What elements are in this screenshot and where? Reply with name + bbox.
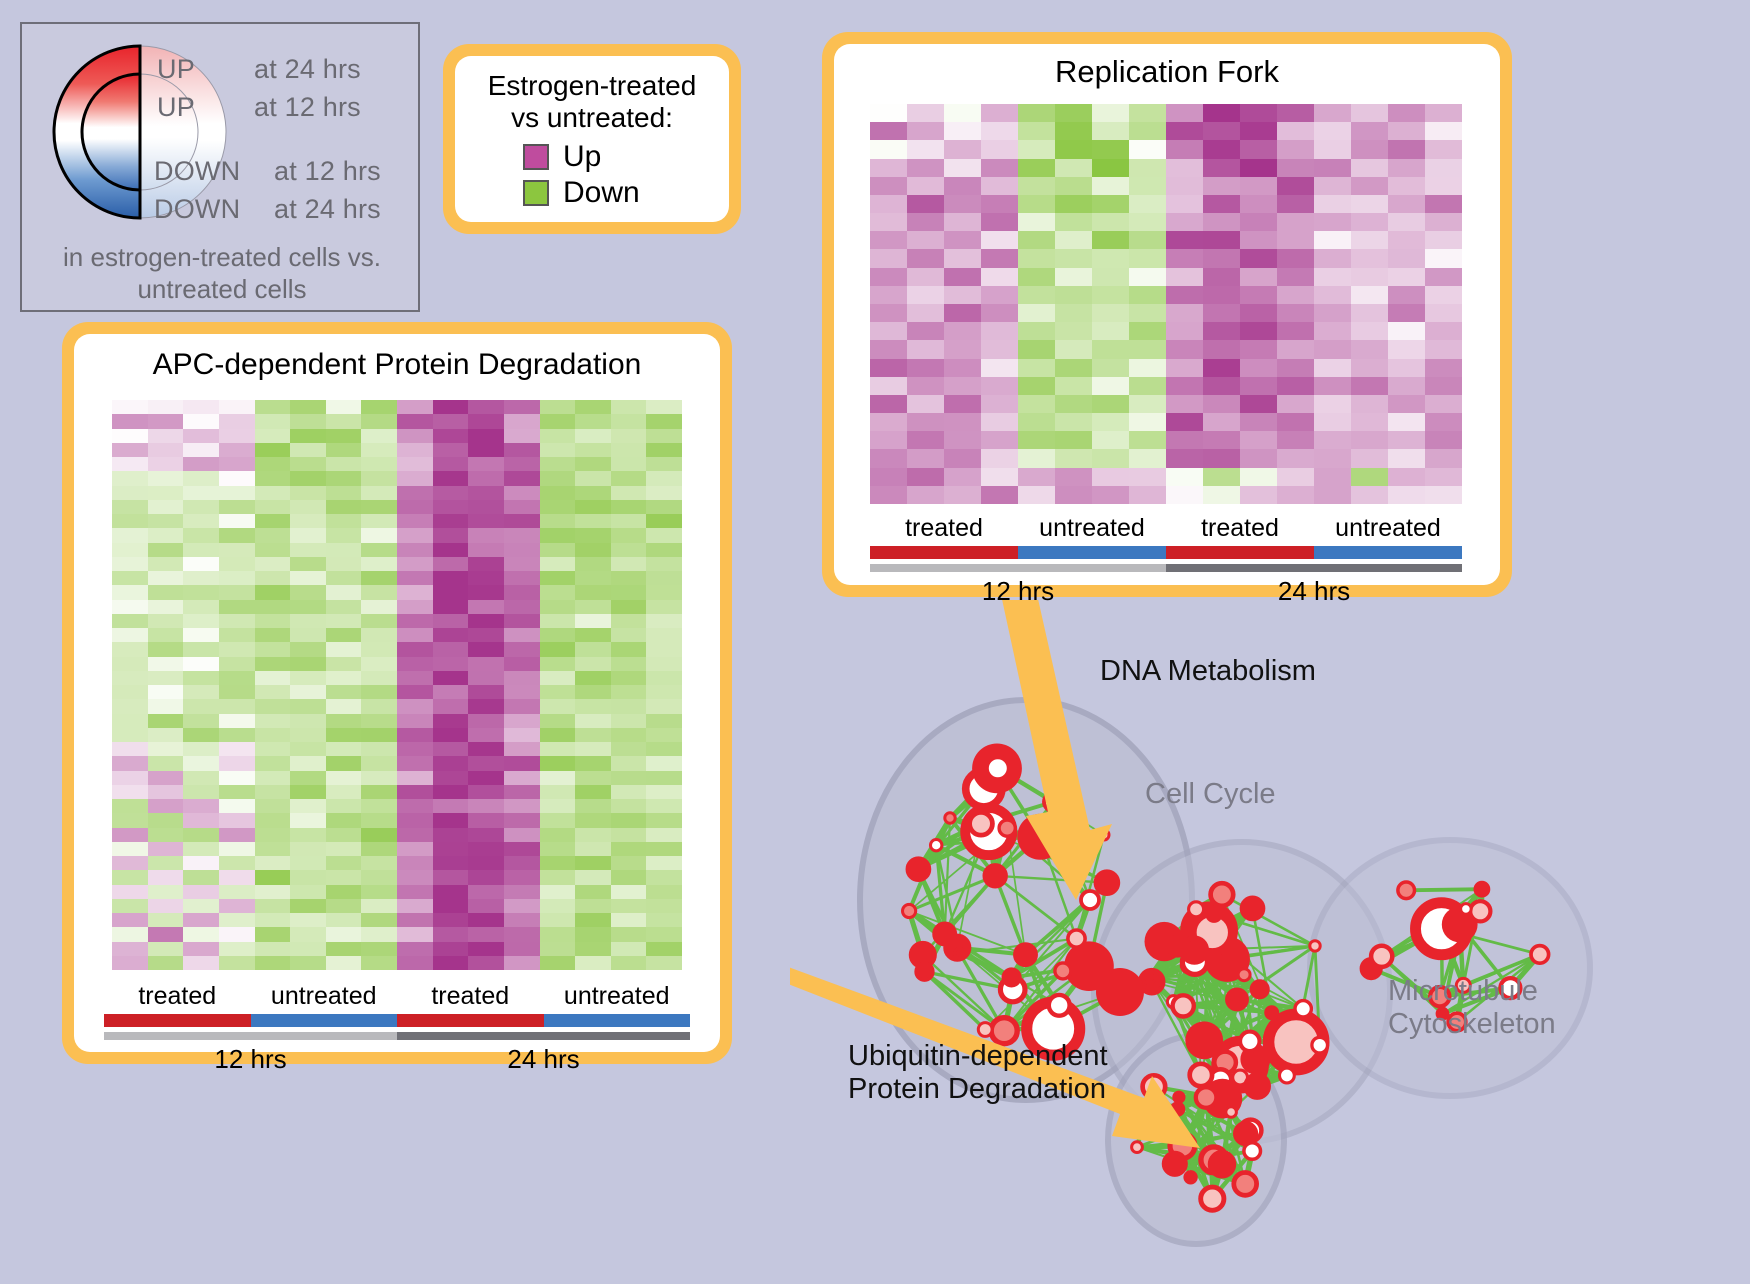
group-bar <box>251 1014 398 1027</box>
key-down-12-label: DOWN <box>154 156 240 187</box>
group-bar-row <box>870 546 1462 559</box>
replication-fork-annotations: treateduntreatedtreateduntreated12 hrs24… <box>870 514 1462 607</box>
key-up-12-label: UP <box>157 92 195 123</box>
time-bar <box>104 1032 397 1040</box>
time-bar-row <box>104 1032 690 1040</box>
apc-annotations: treateduntreatedtreateduntreated12 hrs24… <box>104 982 690 1075</box>
key-up-12-time: at 12 hrs <box>254 92 361 123</box>
apc-panel: APC-dependent Protein Degradation treate… <box>62 322 732 1064</box>
replication-fork-panel: Replication Fork treateduntreatedtreated… <box>822 32 1512 597</box>
time-label: 24 hrs <box>397 1044 690 1075</box>
cluster-label-ubiquitin-protein-degradation: Ubiquitin-dependent Protein Degradation <box>848 1040 1108 1107</box>
legend-item-down: Down <box>523 176 719 210</box>
group-bar <box>397 1014 544 1027</box>
legend-item-up-label: Up <box>563 140 601 174</box>
group-label-row: treateduntreatedtreateduntreated <box>870 514 1462 543</box>
group-bar <box>104 1014 251 1027</box>
colormap-key-box: UP at 24 hrs UP at 12 hrs DOWN at 12 hrs… <box>20 22 420 312</box>
group-label: treated <box>870 514 1018 543</box>
colormap-key-caption: in estrogen-treated cells vs. untreated … <box>22 242 422 305</box>
replication-fork-heatmap <box>870 104 1462 504</box>
group-bar <box>1166 546 1314 559</box>
updown-legend-panel: Estrogen-treated vs untreated: Up Down <box>443 44 741 234</box>
time-bar-row <box>870 564 1462 572</box>
group-label: treated <box>1166 514 1314 543</box>
group-bar <box>544 1014 691 1027</box>
time-label: 12 hrs <box>104 1044 397 1075</box>
legend-title: Estrogen-treated vs untreated: <box>465 70 719 134</box>
cluster-label-dna-metabolism: DNA Metabolism <box>1100 655 1316 688</box>
pathway-network: DNA Metabolism Cell Cycle Microtubule Cy… <box>790 600 1750 1279</box>
time-bar <box>870 564 1166 572</box>
key-down-12-time: at 12 hrs <box>274 156 381 187</box>
apc-heatmap <box>112 400 682 970</box>
up-swatch-icon <box>523 144 549 170</box>
key-up-24-time: at 24 hrs <box>254 54 361 85</box>
group-bar <box>1314 546 1462 559</box>
key-up-24-label: UP <box>157 54 195 85</box>
group-label: treated <box>104 982 251 1011</box>
network-svg <box>790 600 1750 1279</box>
key-down-24-time: at 24 hrs <box>274 194 381 225</box>
cluster-label-cell-cycle: Cell Cycle <box>1145 778 1276 811</box>
down-swatch-icon <box>523 180 549 206</box>
group-label: untreated <box>1314 514 1462 543</box>
figure-canvas: UP at 24 hrs UP at 12 hrs DOWN at 12 hrs… <box>0 0 1750 1279</box>
apc-title: APC-dependent Protein Degradation <box>74 348 720 382</box>
key-down-24-label: DOWN <box>154 194 240 225</box>
group-label: untreated <box>1018 514 1166 543</box>
group-bar <box>1018 546 1166 559</box>
time-bar <box>397 1032 690 1040</box>
group-label: treated <box>397 982 544 1011</box>
time-label-row: 12 hrs24 hrs <box>104 1044 690 1075</box>
group-bar-row <box>104 1014 690 1027</box>
group-label-row: treateduntreatedtreateduntreated <box>104 982 690 1011</box>
legend-item-up: Up <box>523 140 719 174</box>
legend-item-down-label: Down <box>563 176 640 210</box>
time-bar <box>1166 564 1462 572</box>
legend-items: Up Down <box>465 140 719 210</box>
group-bar <box>870 546 1018 559</box>
group-label: untreated <box>251 982 398 1011</box>
group-label: untreated <box>544 982 691 1011</box>
cluster-label-microtubule-cytoskeleton: Microtubule Cytoskeleton <box>1388 975 1556 1042</box>
replication-fork-title: Replication Fork <box>834 54 1500 90</box>
